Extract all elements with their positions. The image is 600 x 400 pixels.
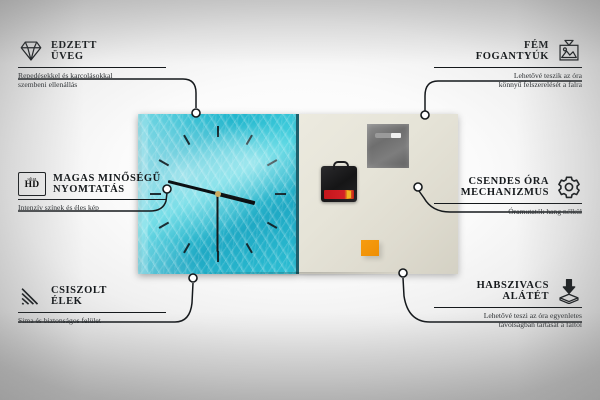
feature-title: FÉM FOGANTYÚK: [476, 40, 549, 63]
press-pad-icon: [556, 278, 582, 304]
feature-subtitle: Sima és biztonságos felület: [18, 316, 166, 325]
glass-edge: [296, 114, 299, 274]
feature-subtitle: Lehetővé teszik az óra könnyű felszerelé…: [434, 71, 582, 90]
gear-icon: [556, 174, 582, 200]
infographic-canvas: EDZETT ÜVEG Repedésekkel és karcolásokka…: [0, 0, 600, 400]
foam-pad-sample: [361, 240, 379, 256]
metal-hanger-plate: [367, 124, 409, 168]
picture-hanger-icon: [556, 38, 582, 64]
feature-title: HABSZIVACS ALÁTÉT: [477, 280, 549, 303]
product-shadow: [140, 272, 462, 282]
feature-title: MAGAS MINŐSÉGŰ NYOMTATÁS: [53, 173, 161, 196]
feature-header: CSENDES ÓRA MECHANIZMUS: [434, 174, 582, 200]
feature-title: EDZETT ÜVEG: [51, 40, 97, 63]
feature-subtitle: Óramutatók hang nélkül: [434, 207, 582, 216]
feature-header: HABSZIVACS ALÁTÉT: [434, 278, 582, 304]
feature-silent-mechanism: CSENDES ÓRA MECHANIZMUS Óramutatók hang …: [434, 174, 582, 216]
feature-header: EDZETT ÜVEG: [18, 38, 166, 64]
feature-title: CSENDES ÓRA MECHANIZMUS: [461, 176, 549, 199]
feature-divider: [434, 67, 582, 68]
polished-edges-icon: [18, 283, 44, 309]
feature-tempered-glass: EDZETT ÜVEG Repedésekkel és karcolásokka…: [18, 38, 166, 90]
feature-header: CSISZOLT ÉLEK: [18, 283, 166, 309]
ultra-hd-icon: ultraHD: [18, 172, 46, 196]
feature-divider: [434, 307, 582, 308]
clock-center-pin: [215, 191, 221, 197]
feature-metal-handles: FÉM FOGANTYÚK Lehetővé teszik az óra kön…: [434, 38, 582, 90]
battery: [324, 190, 354, 199]
clock-minute-hand: [167, 180, 218, 195]
feature-subtitle: Intenzív színek és éles kép: [18, 203, 166, 212]
product-photo: [138, 114, 458, 274]
feature-subtitle: Lehetővé teszi az óra egyenletes távolsá…: [434, 311, 582, 330]
feature-divider: [18, 199, 166, 200]
feature-header: ultraHD MAGAS MINŐSÉGŰ NYOMTATÁS: [18, 172, 166, 196]
feature-foam-pad: HABSZIVACS ALÁTÉT Lehetővé teszi az óra …: [434, 278, 582, 330]
quartz-mechanism-box: [321, 166, 357, 202]
feature-high-quality-print: ultraHD MAGAS MINŐSÉGŰ NYOMTATÁS Intenzí…: [18, 172, 166, 212]
clock-second-hand: [217, 194, 219, 252]
hanger-slot: [375, 133, 401, 138]
feature-divider: [18, 67, 166, 68]
feature-polished-edges: CSISZOLT ÉLEK Sima és biztonságos felüle…: [18, 283, 166, 325]
feature-subtitle: Repedésekkel és karcolásokkal szembeni e…: [18, 71, 166, 90]
feature-title: CSISZOLT ÉLEK: [51, 285, 107, 308]
mechanism-hook: [333, 161, 349, 170]
feature-header: FÉM FOGANTYÚK: [434, 38, 582, 64]
feature-divider: [18, 312, 166, 313]
clock-hour-hand: [218, 192, 256, 205]
diamond-icon: [18, 38, 44, 64]
feature-divider: [434, 203, 582, 204]
